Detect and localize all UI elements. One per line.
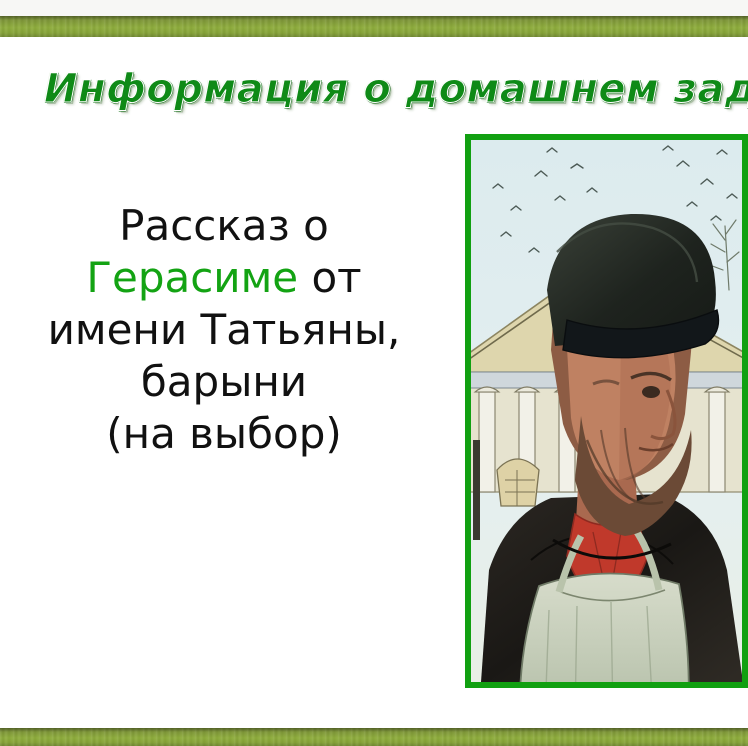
slide-canvas: Информация о домашнем задан Рассказ о Ге…: [0, 0, 748, 746]
illustration-frame: [465, 134, 748, 688]
text-line-2: Герасиме от: [14, 252, 434, 304]
text-line-4: барыни: [14, 356, 434, 408]
text-line-2-tail: от: [298, 253, 362, 302]
bottom-grass-band: [0, 728, 748, 746]
page-title: Информация о домашнем задан: [44, 66, 748, 112]
assignment-text-block: Рассказ о Герасиме от имени Татьяны, бар…: [14, 200, 434, 460]
text-line-3: имени Татьяны,: [14, 304, 434, 356]
gerasim-illustration: [471, 140, 742, 682]
top-white-strip: [0, 0, 748, 16]
top-grass-band: [0, 16, 748, 37]
text-line-5: (на выбор): [14, 408, 434, 460]
highlighted-name: Герасиме: [86, 253, 298, 302]
text-line-1: Рассказ о: [14, 200, 434, 252]
